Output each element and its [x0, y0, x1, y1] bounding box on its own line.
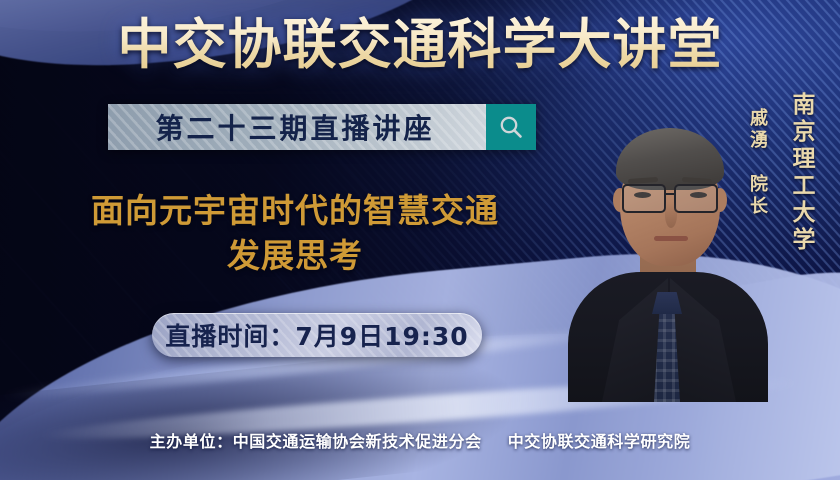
glasses-lens-left	[622, 184, 666, 213]
search-icon-container[interactable]	[486, 104, 536, 150]
search-icon	[498, 114, 524, 140]
organizer-secondary: 中交协联交通科学研究院	[508, 432, 691, 451]
organizers-prefix: 主办单位：	[150, 432, 233, 451]
broadcast-time-text: 直播时间：7月9日19:30	[165, 317, 468, 353]
lecture-title: 面向元宇宙时代的智慧交通 发展思考	[30, 188, 560, 278]
lecture-title-line1: 面向元宇宙时代的智慧交通	[30, 188, 560, 233]
organizers-line: 主办单位：中国交通运输协会新技术促进分会中交协联交通科学研究院	[0, 428, 840, 452]
organizer-primary: 中国交通运输协会新技术促进分会	[233, 432, 482, 451]
lecture-title-line2: 发展思考	[30, 233, 560, 278]
speaker-organization: 南京理工大学	[784, 92, 818, 254]
speaker-name-title: 戚湧 院长	[744, 108, 770, 218]
episode-bar: 第二十三期直播讲座	[108, 104, 536, 150]
webinar-poster: 中交协联交通科学大讲堂 第二十三期直播讲座 面向元宇宙时代的智慧交通 发展思考 …	[0, 0, 840, 480]
main-title: 中交协联交通科学大讲堂	[0, 14, 840, 76]
speaker-credit: 戚湧 院长 南京理工大学	[744, 92, 818, 254]
portrait-mouth	[654, 236, 688, 241]
episode-label: 第二十三期直播讲座	[108, 104, 486, 150]
speaker-portrait	[572, 102, 764, 402]
broadcast-time-badge: 直播时间：7月9日19:30	[152, 313, 482, 357]
portrait-nose	[665, 202, 677, 228]
glasses-lens-right	[674, 184, 718, 213]
